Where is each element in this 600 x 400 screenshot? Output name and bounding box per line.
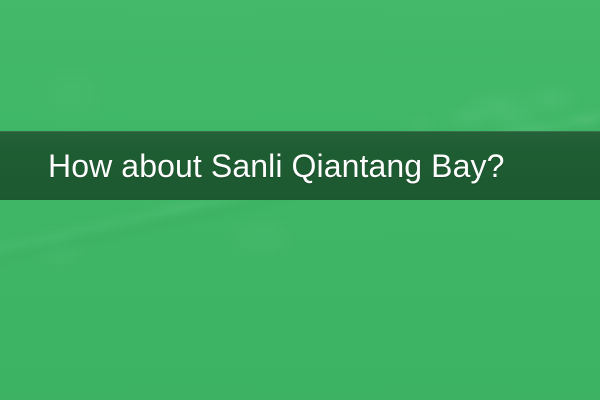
caption-band: How about Sanli Qiantang Bay? bbox=[0, 131, 600, 200]
left-light-patches-icon bbox=[0, 0, 600, 400]
crowd-foliage-haze-icon bbox=[0, 0, 600, 400]
jpeg-grain-overlay bbox=[0, 0, 600, 400]
background-vertical-shading bbox=[0, 0, 600, 400]
caption-title: How about Sanli Qiantang Bay? bbox=[0, 150, 505, 182]
green-color-wash-overlay bbox=[0, 0, 600, 400]
poster-image: How about Sanli Qiantang Bay? bbox=[0, 0, 600, 400]
